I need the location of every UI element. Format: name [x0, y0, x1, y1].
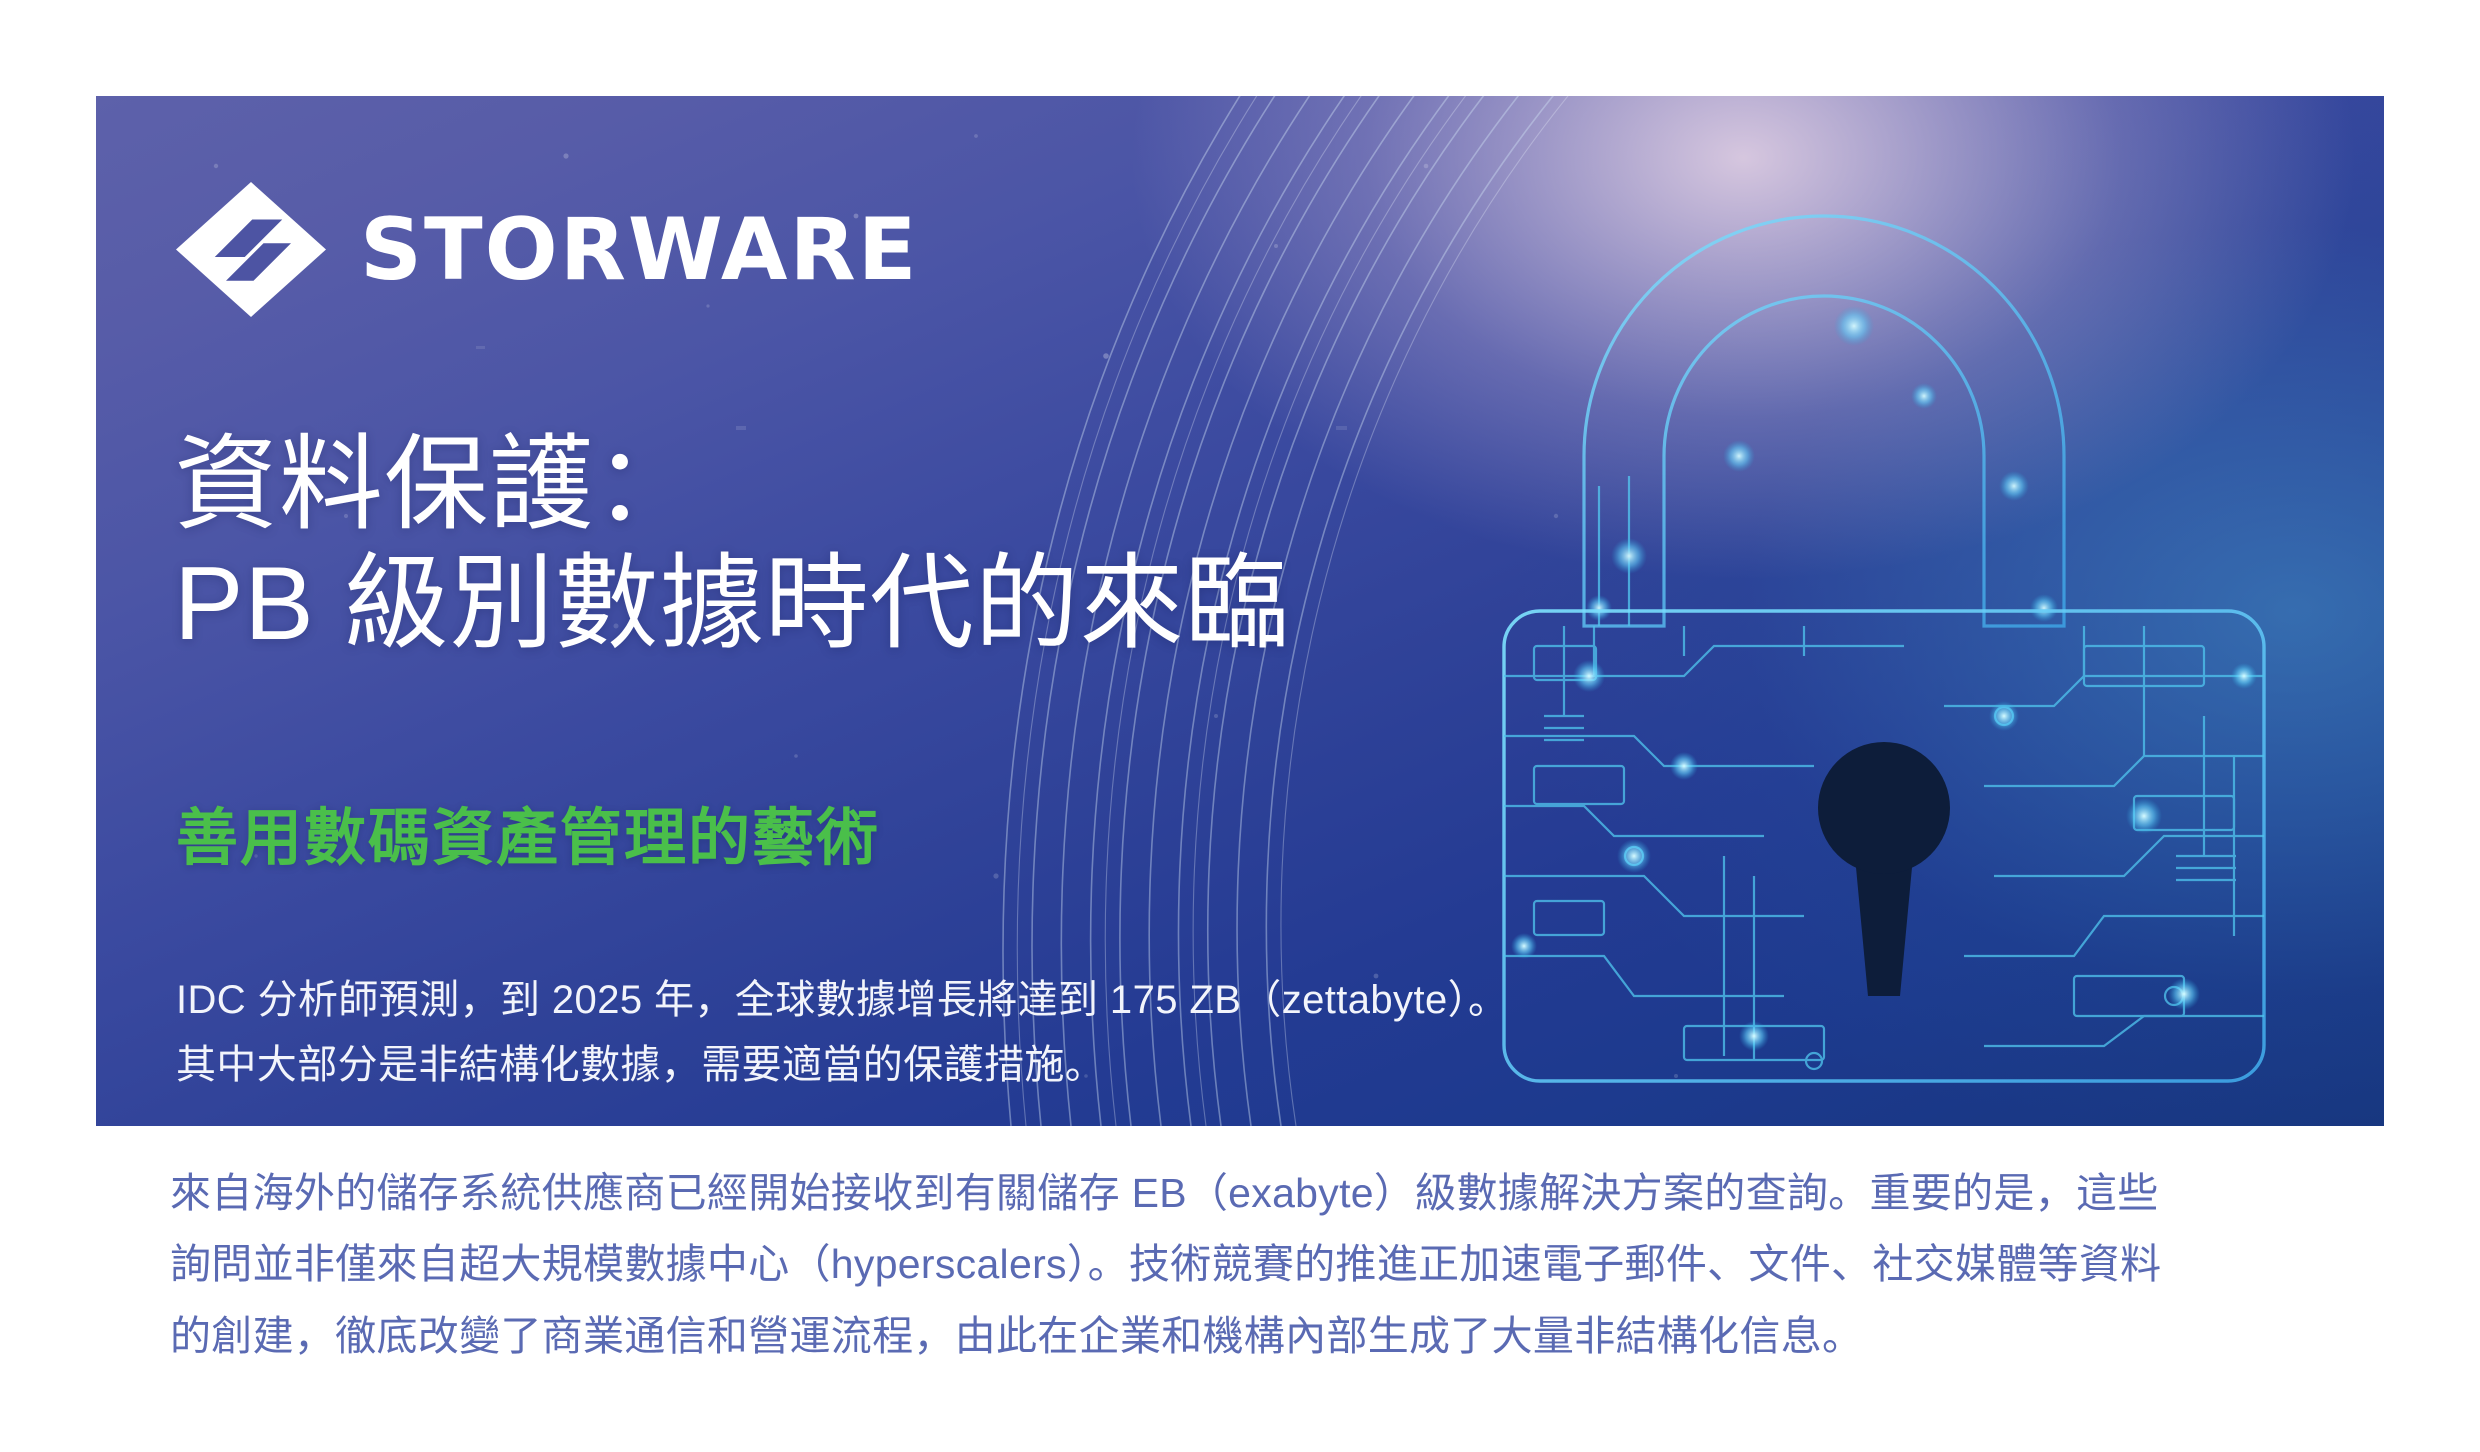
- headline-line-1: 資料保護：: [174, 427, 699, 543]
- banner-lede-line-1: IDC 分析師預測，到 2025 年，全球數據增長將達到 175 ZB（zett…: [176, 968, 1236, 1033]
- page-subtitle: 善用數碼資產管理的藝術: [176, 808, 880, 870]
- article-body-line-1: 來自海外的儲存系統供應商已經開始接收到有關儲存 EB（exabyte）級數據解決…: [170, 1158, 2310, 1229]
- banner-lede-line-2: 其中大部分是非結構化數據，需要適當的保護措施。: [176, 1033, 1236, 1098]
- banner-lede: IDC 分析師預測，到 2025 年，全球數據增長將達到 175 ZB（zett…: [176, 968, 1236, 1098]
- page-title: 資料保護： PB 級別數據時代的來臨: [174, 426, 1290, 663]
- hero-banner: STORWARE 資料保護： PB 級別數據時代的來臨 善用數碼資產管理的藝術 …: [96, 96, 2384, 1126]
- storware-wordmark: STORWARE: [360, 207, 918, 293]
- storware-hexagon-s-logo-icon: [176, 182, 326, 317]
- headline-line-2: PB 級別數據時代的來臨: [174, 545, 1290, 664]
- article-body: 來自海外的儲存系統供應商已經開始接收到有關儲存 EB（exabyte）級數據解決…: [170, 1158, 2310, 1372]
- circuit-board-padlock-icon: [1384, 156, 2384, 1126]
- article-body-line-3: 的創建，徹底改變了商業通信和營運流程，由此在企業和機構內部生成了大量非結構化信息…: [170, 1301, 2310, 1372]
- storware-logo[interactable]: STORWARE: [176, 182, 918, 317]
- article-body-line-2: 詢問並非僅來自超大規模數據中心（hyperscalers）。技術競賽的推進正加速…: [170, 1229, 2310, 1300]
